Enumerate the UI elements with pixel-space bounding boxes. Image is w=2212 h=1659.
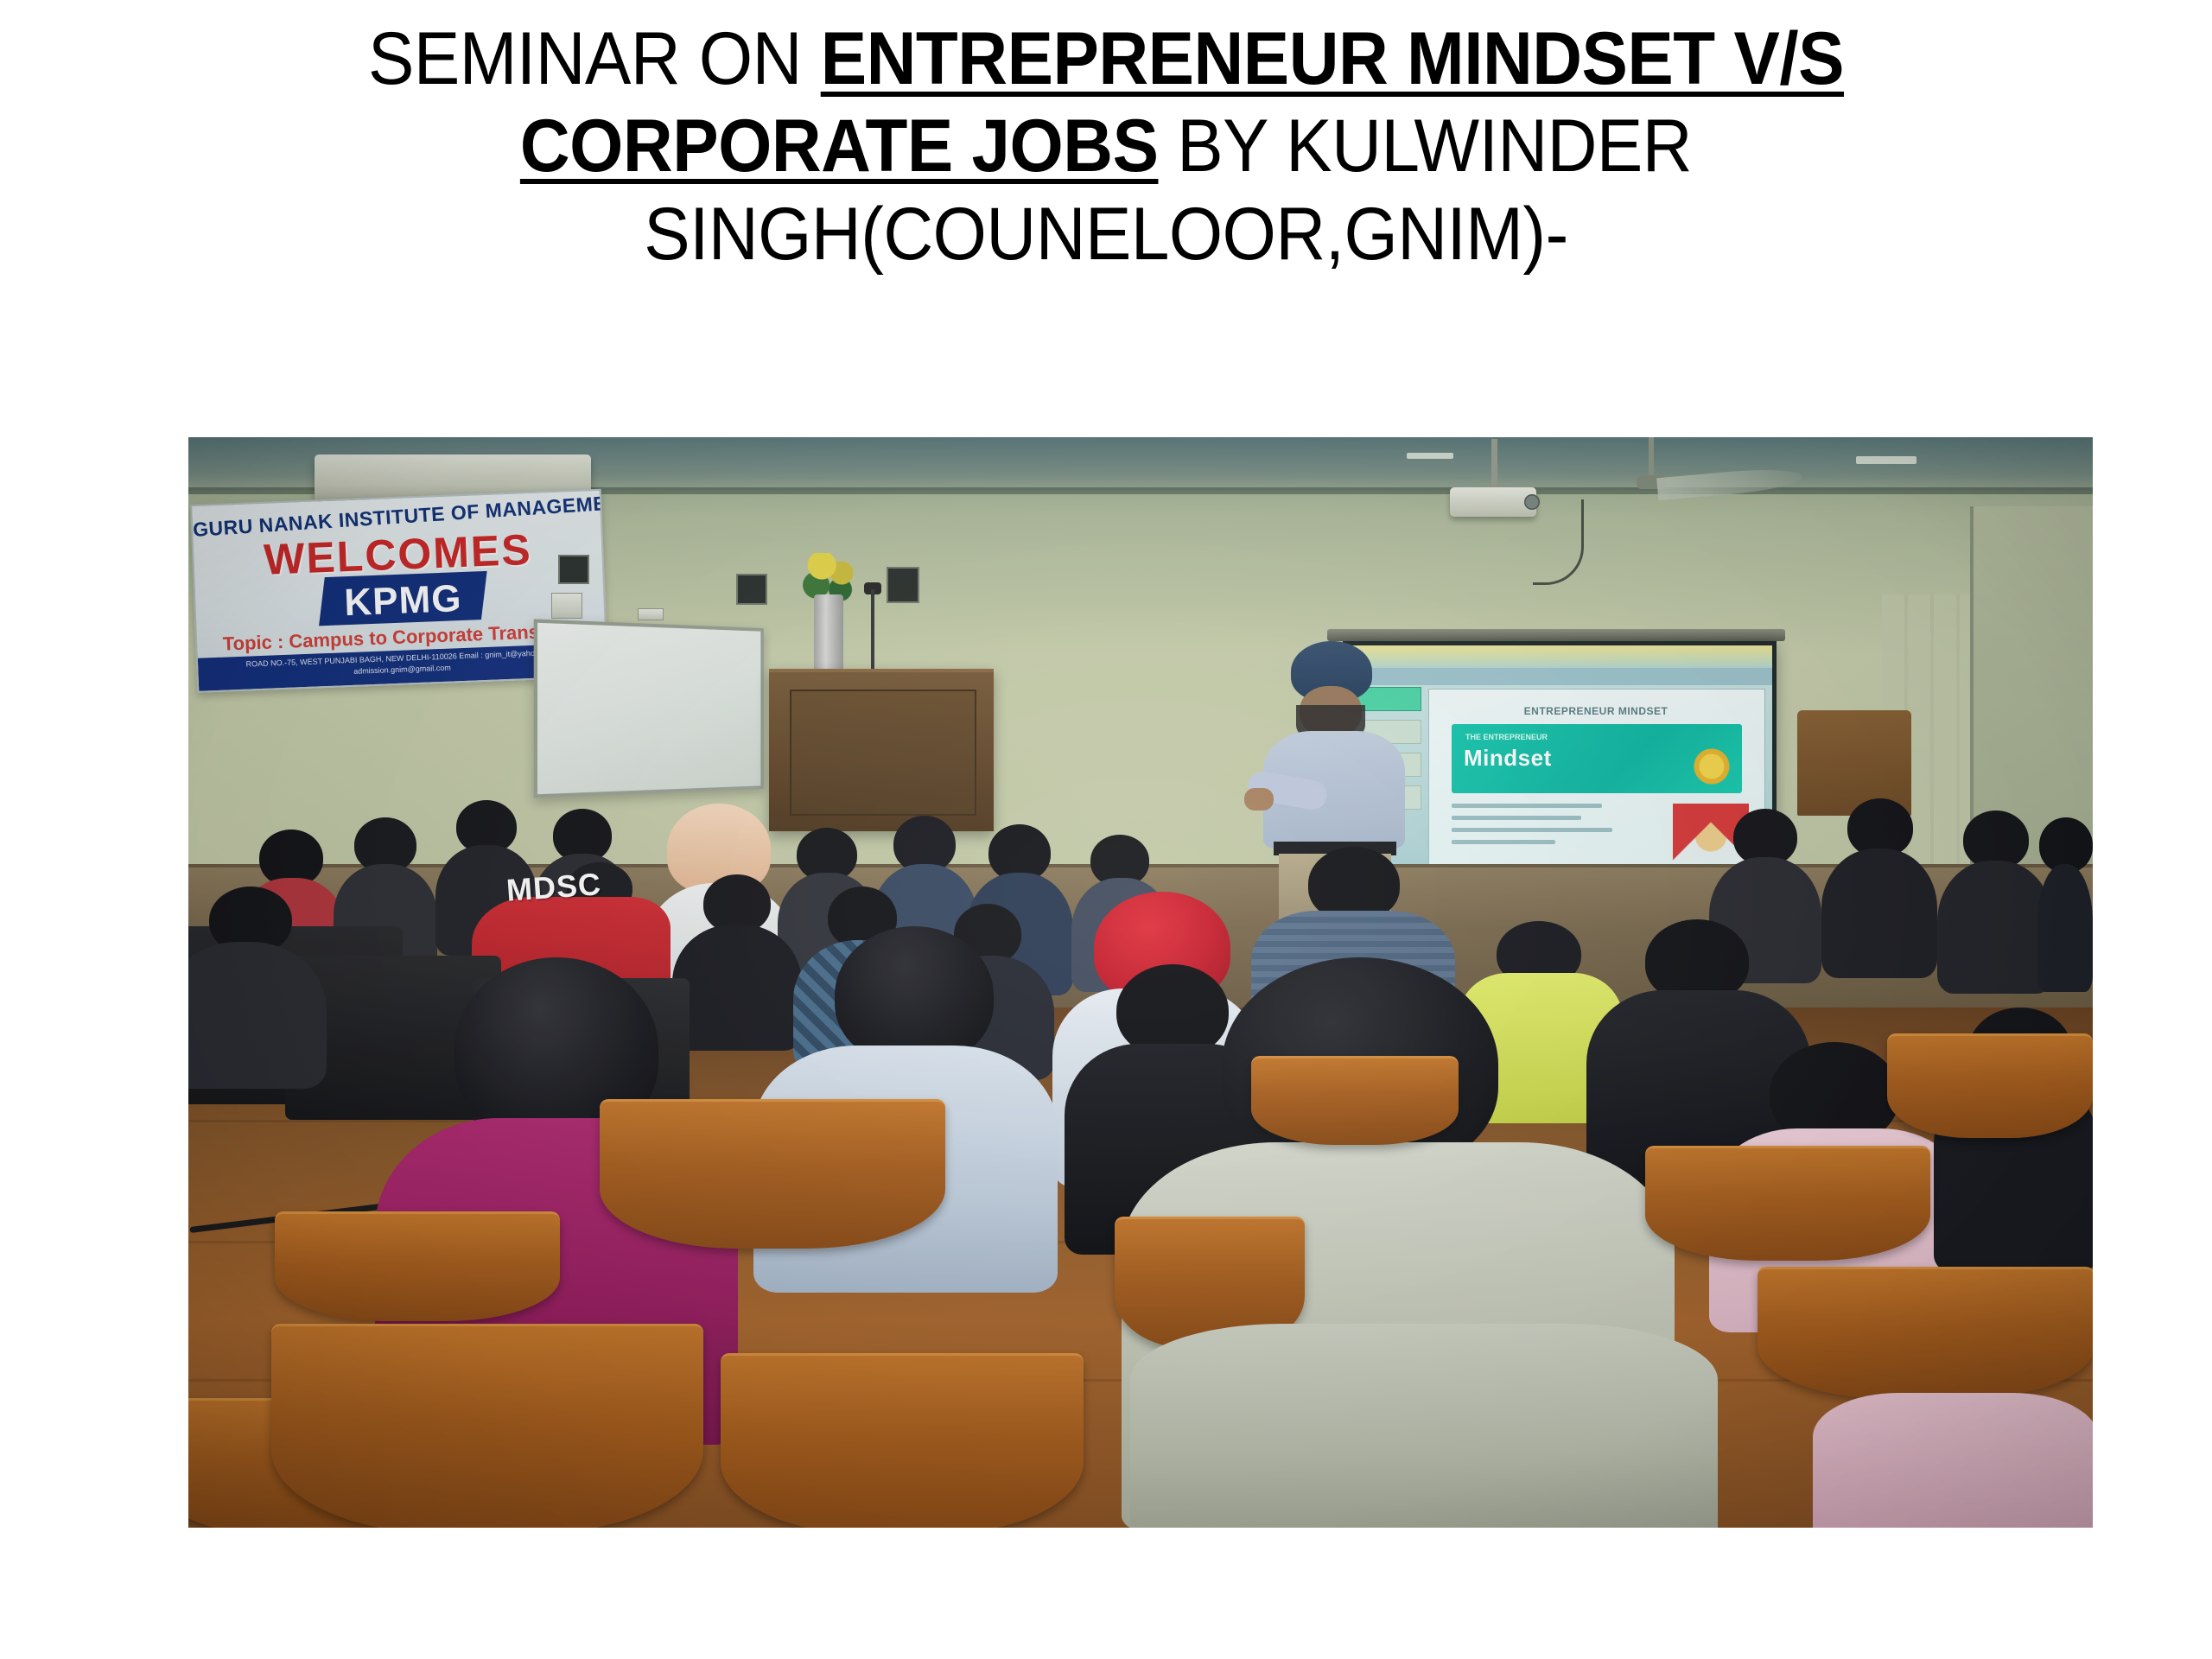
projector-icon — [1450, 487, 1536, 517]
title-line-3: SINGH(COUNELOOR,GNIM)- — [78, 191, 2135, 278]
attendee-front-khaki-shoulder — [1130, 1324, 1718, 1528]
wooden-chair-back — [1645, 1146, 1930, 1261]
title-line-2-post: BY KULWINDER — [1158, 105, 1692, 188]
shirt-logo-text: MDSC — [505, 866, 603, 909]
attendee-near-left — [188, 887, 327, 1085]
ceiling-light-icon — [1407, 453, 1453, 459]
wooden-chair-back — [275, 1211, 560, 1321]
wooden-chair-back — [1251, 1056, 1459, 1145]
screen-text-lines — [1452, 804, 1624, 852]
speaker-hand — [1244, 788, 1274, 810]
attendee-row-far — [1937, 810, 2053, 992]
wall-speaker-box — [558, 555, 589, 584]
microphone-stand — [871, 589, 874, 681]
flower-vase — [814, 594, 843, 677]
projector-mount-rod — [1491, 439, 1497, 489]
title-line-1-pre: SEMINAR ON — [368, 17, 821, 100]
screen-text-line — [1452, 828, 1612, 832]
whiteboard — [534, 619, 764, 798]
wooden-chair-back — [1887, 1033, 2093, 1138]
wooden-chair-back — [600, 1099, 945, 1249]
ceiling-fan-rod — [1649, 437, 1654, 477]
wooden-chair-back — [721, 1353, 1084, 1528]
screen-hero-banner: THE ENTREPRENEUR Mindset — [1452, 724, 1742, 793]
title-line-1: SEMINAR ON ENTREPRENEUR MINDSET V/S — [78, 16, 2135, 103]
wall-switch-plate — [638, 608, 664, 620]
attendee-torso — [1937, 861, 2053, 994]
ceiling-light-icon — [1856, 456, 1916, 464]
attendee-torso — [1813, 1393, 2093, 1528]
attendee-front-pink-shoulder — [1813, 1393, 2093, 1528]
screen-hero-subtitle: THE ENTREPRENEUR — [1465, 733, 1656, 741]
banner-kpmg-logo-text: KPMG — [316, 576, 491, 626]
projection-screen-roller — [1327, 629, 1785, 641]
wall-outlet — [887, 567, 919, 603]
title-line-2: CORPORATE JOBS BY KULWINDER — [78, 103, 2135, 190]
wooden-chair-back — [271, 1324, 703, 1528]
podium-front-panel — [790, 690, 976, 816]
title-line-1-emphasis: ENTREPRENEUR MINDSET V/S — [821, 17, 1844, 100]
attendee-row-far — [2037, 817, 2093, 990]
wall-switch-plate — [551, 593, 582, 619]
screen-hero-badge-icon — [1694, 748, 1730, 785]
attendee-shirt — [1130, 1324, 1718, 1528]
wall-speaker-box — [736, 574, 767, 605]
title-line-3-text: SINGH(COUNELOOR,GNIM)- — [644, 193, 1568, 276]
screen-hero-title: Mindset — [1464, 745, 1654, 772]
screen-heading-text: ENTREPRENEUR MINDSET — [1453, 705, 1738, 717]
attendee-row-far — [1821, 798, 1937, 976]
attendee-torso — [1821, 849, 1937, 978]
attendee-torso — [2037, 864, 2093, 992]
attendee-head — [835, 926, 994, 1065]
screen-text-line — [1452, 804, 1602, 808]
seminar-photo: GURU NANAK INSTITUTE OF MANAGEMENT WELCO… — [188, 437, 2093, 1528]
screen-text-line — [1452, 840, 1555, 844]
title-line-2-emphasis: CORPORATE JOBS — [520, 105, 1159, 188]
wooden-chair-back — [1758, 1267, 2093, 1399]
screen-text-line — [1452, 816, 1581, 820]
attendee-torso — [188, 942, 327, 1089]
slide-title-block: SEMINAR ON ENTREPRENEUR MINDSET V/S CORP… — [0, 16, 2212, 278]
